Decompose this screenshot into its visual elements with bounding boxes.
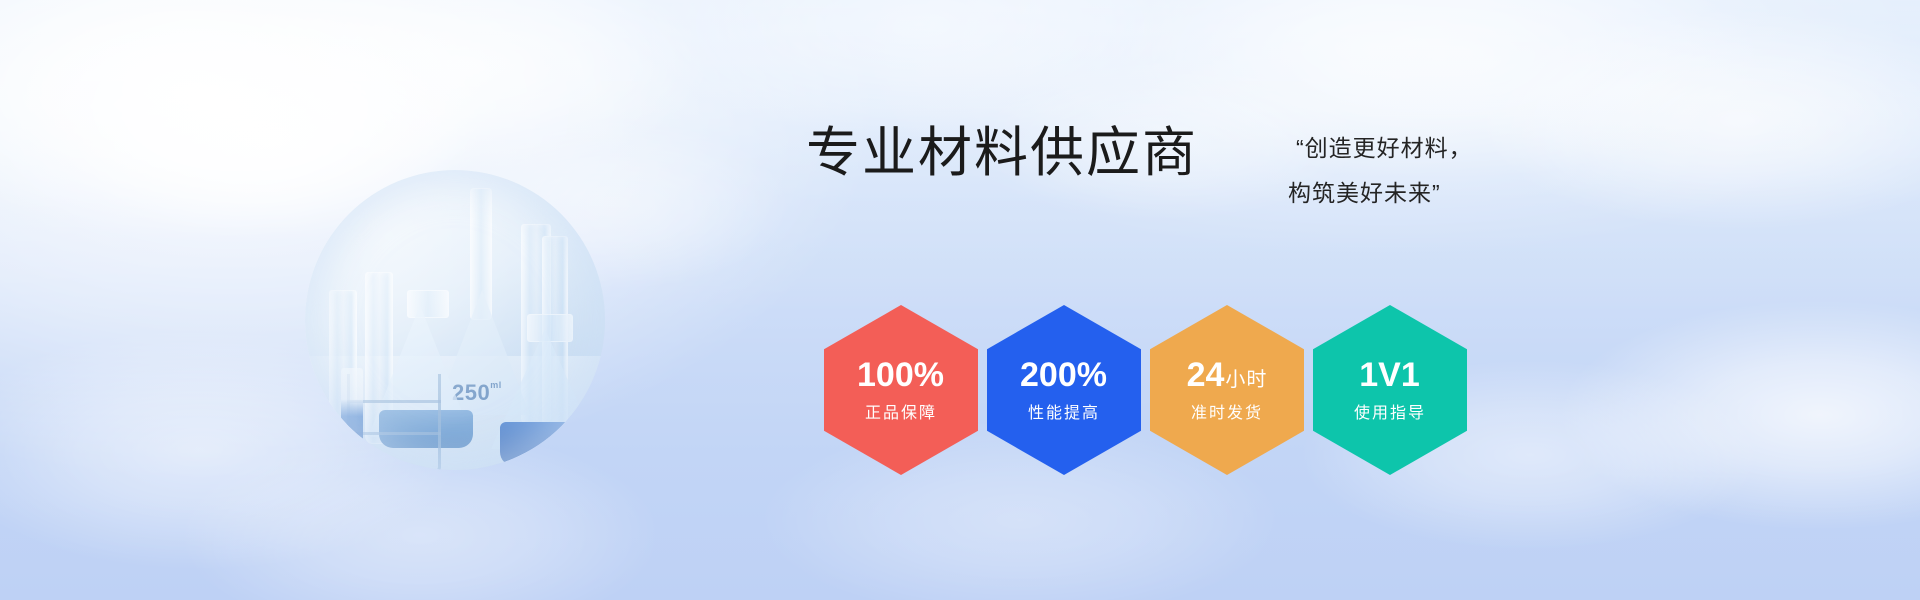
badge-value: 1V1 [1359,358,1421,392]
feature-badge-one-on-one-guidance[interactable]: 1V1 使用指导 [1313,305,1467,475]
slogan-line-1: “创造更好材料， [1288,126,1473,171]
badge-value: 100% [857,358,945,392]
badge-label: 准时发货 [1191,406,1263,422]
badge-label: 正品保障 [865,406,937,422]
badge-value: 200% [1020,358,1108,392]
badge-value-number: 1V1 [1359,358,1420,392]
laboratory-glassware-photo: 250ml [305,170,605,470]
badge-label: 使用指导 [1354,406,1426,422]
blue-liquid [500,422,598,466]
badge-value-number: 24 [1187,358,1225,392]
feature-badge-row: 100% 正品保障 200% 性能提高 24小时 准时发货 1V1 使用指导 [824,305,1467,475]
rack-test-tube [341,368,363,446]
badge-value-unit: 小时 [1225,370,1267,390]
badge-value-number: 200% [1020,358,1107,392]
feature-badge-on-time-shipping[interactable]: 24小时 准时发货 [1150,305,1304,475]
feature-badge-performance-boost[interactable]: 200% 性能提高 [987,305,1141,475]
feature-badge-genuine-guarantee[interactable]: 100% 正品保障 [824,305,978,475]
slogan-line-2: 构筑美好未来” [1288,171,1473,216]
slogan: “创造更好材料， 构筑美好未来” [1288,126,1473,216]
badge-label: 性能提高 [1028,406,1100,422]
photo-content: 250ml [305,170,605,470]
badge-value: 24小时 [1187,358,1268,392]
sky-gradient-background [0,0,1920,600]
badge-value-number: 100% [857,358,944,392]
page-title: 专业材料供应商 [806,124,1198,183]
hero-banner: 250ml 专业材料供应商 “创造更好材料， 构筑美好未来” 100% 正品保障 [0,0,1920,600]
